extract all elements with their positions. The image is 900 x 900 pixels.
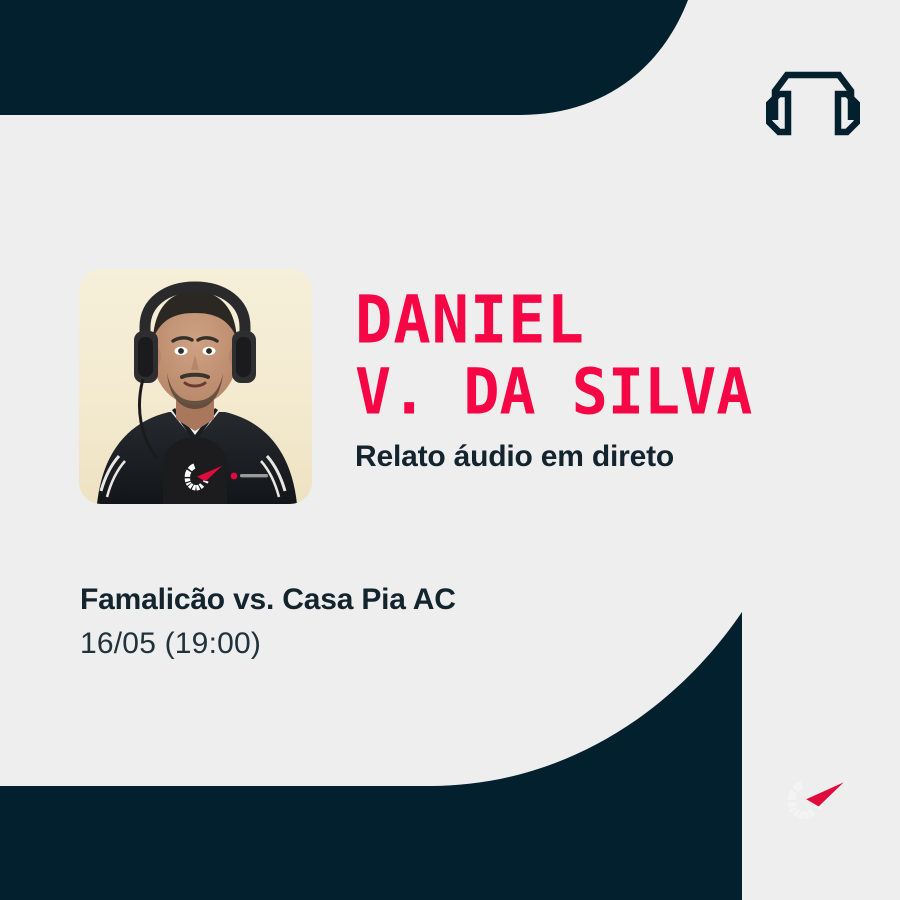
headphones-icon xyxy=(766,58,860,136)
brand-logo-icon xyxy=(783,777,849,837)
commentator-name-block: DANIEL V. DA SILVA Relato áudio em diret… xyxy=(355,282,875,474)
broadcast-promo-card: DANIEL V. DA SILVA Relato áudio em diret… xyxy=(0,0,900,900)
match-datetime: 16/05 (19:00) xyxy=(80,627,456,661)
broadcast-subtitle: Relato áudio em direto xyxy=(355,440,875,474)
commentator-photo xyxy=(79,269,312,504)
commentator-first-name: DANIEL xyxy=(355,282,875,358)
match-info-block: Famalicão vs. Casa Pia AC 16/05 (19:00) xyxy=(80,583,456,661)
top-dark-band xyxy=(0,0,688,115)
match-teams: Famalicão vs. Casa Pia AC xyxy=(80,583,456,617)
commentator-last-name: V. DA SILVA xyxy=(355,354,875,430)
